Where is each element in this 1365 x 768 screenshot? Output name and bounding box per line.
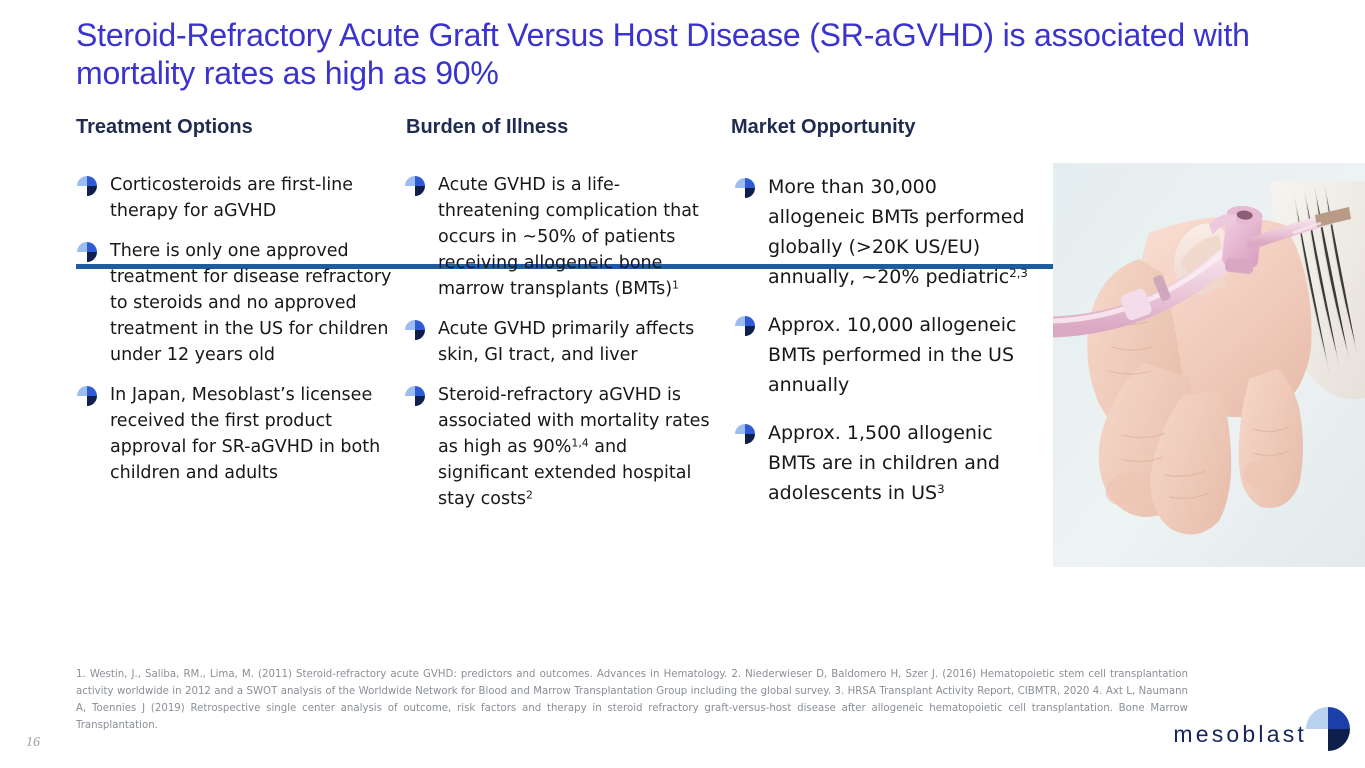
mesoblast-pinwheel-bullet-icon [734, 315, 756, 337]
footnote-ref: 3 [937, 482, 945, 496]
list-item: Acute GVHD is a life-threatening complic… [404, 172, 714, 302]
list-item-text: Approx. 10,000 allogeneic BMTs performed… [768, 310, 1034, 400]
mesoblast-pinwheel-bullet-icon [404, 175, 426, 197]
list-item-text: There is only one approved treatment for… [110, 238, 396, 368]
list-item: More than 30,000 allogeneic BMTs perform… [734, 172, 1034, 292]
column-header-burden-of-illness: Burden of Illness [406, 116, 568, 139]
list-item: Acute GVHD primarily affects skin, GI tr… [404, 316, 714, 368]
mesoblast-pinwheel-logo-icon [1305, 706, 1351, 752]
hand-iv-cannula-photo [1053, 163, 1365, 567]
list-item-text: In Japan, Mesoblast’s licensee received … [110, 382, 396, 486]
mesoblast-pinwheel-bullet-icon [404, 385, 426, 407]
mesoblast-logo-wordmark: mesoblast [1173, 721, 1307, 748]
burden-of-illness-column: Acute GVHD is a life-threatening complic… [404, 172, 714, 526]
mesoblast-pinwheel-bullet-icon [76, 175, 98, 197]
footnote-ref: 1,4 [571, 436, 588, 449]
list-item-text: Acute GVHD primarily affects skin, GI tr… [438, 316, 714, 368]
list-item-text: Acute GVHD is a life-threatening complic… [438, 172, 714, 302]
list-item-text: Approx. 1,500 allogenic BMTs are in chil… [768, 418, 1034, 508]
column-header-treatment-options: Treatment Options [76, 116, 253, 139]
footnote-ref: 2,3 [1009, 266, 1028, 280]
column-header-market-opportunity: Market Opportunity [731, 116, 915, 139]
list-item: Approx. 10,000 allogeneic BMTs performed… [734, 310, 1034, 400]
market-opportunity-column: More than 30,000 allogeneic BMTs perform… [734, 172, 1034, 526]
list-item: Approx. 1,500 allogenic BMTs are in chil… [734, 418, 1034, 508]
footnote-ref: 1 [672, 278, 679, 291]
mesoblast-pinwheel-bullet-icon [734, 177, 756, 199]
mesoblast-pinwheel-bullet-icon [76, 241, 98, 263]
column-headers: Treatment Options Burden of Illness Mark… [76, 116, 1020, 148]
list-item: There is only one approved treatment for… [76, 238, 396, 368]
slide-title: Steroid-Refractory Acute Graft Versus Ho… [76, 16, 1336, 92]
footnote-ref: 2 [526, 488, 533, 501]
list-item: In Japan, Mesoblast’s licensee received … [76, 382, 396, 486]
list-item: Steroid-refractory aGVHD is associated w… [404, 382, 714, 512]
list-item-text: More than 30,000 allogeneic BMTs perform… [768, 172, 1034, 292]
list-item: Corticosteroids are first-line therapy f… [76, 172, 396, 224]
mesoblast-logo: mesoblast [1173, 716, 1351, 752]
treatment-options-column: Corticosteroids are first-line therapy f… [76, 172, 396, 500]
mesoblast-pinwheel-bullet-icon [404, 319, 426, 341]
footnote-references: 1. Westin, J., Saliba, RM., Lima, M. (20… [76, 666, 1188, 734]
mesoblast-pinwheel-bullet-icon [734, 423, 756, 445]
page-number: 16 [26, 735, 40, 751]
list-item-text: Steroid-refractory aGVHD is associated w… [438, 382, 714, 512]
mesoblast-pinwheel-bullet-icon [76, 385, 98, 407]
list-item-text: Corticosteroids are first-line therapy f… [110, 172, 396, 224]
